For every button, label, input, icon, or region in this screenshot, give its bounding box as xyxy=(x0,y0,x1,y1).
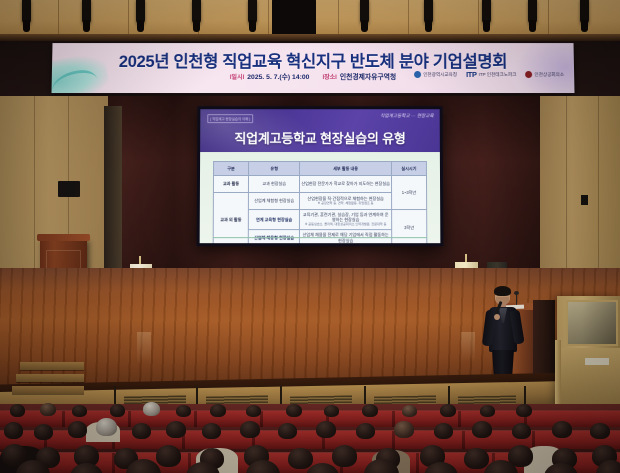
projection-screen: [ 직업계고 현장실습의 이해 ] 직업계고등학교 ··· 현장교육 직업계고등… xyxy=(197,106,444,246)
speaker-hair xyxy=(494,286,511,296)
booth-lower-panel xyxy=(560,348,620,408)
cell-when: 1~3학년 xyxy=(391,176,426,210)
stage-door xyxy=(104,106,122,268)
slide-footer-rule xyxy=(213,237,428,238)
table-row: 교과 활동 교과 현장실습 산업현장 전문가가 학교로 찾아가 지도하는 현장실… xyxy=(213,176,426,193)
ceiling-trim xyxy=(0,34,620,41)
slide-title: 직업계고등학교 현장실습의 유형 xyxy=(200,128,440,147)
slide-body: 구분 유형 세부 활동 내용 실시시기 교과 활동 교과 현장실습 산업현장 전… xyxy=(200,152,441,243)
stage-steps xyxy=(20,322,88,394)
col-header-division: 구분 xyxy=(214,162,249,176)
stage-light-icon xyxy=(528,0,537,24)
col-header-type: 유형 xyxy=(249,162,300,176)
ceiling-projector xyxy=(272,0,316,38)
logo-label: 인천광역시교육청 xyxy=(423,71,457,77)
cell-type: 교과 현장실습 xyxy=(249,176,300,193)
event-banner: 2025년 인천형 직업교육 혁신지구 반도체 분야 기업설명회 l일시l 20… xyxy=(51,43,574,93)
ceiling-panel xyxy=(0,0,620,38)
table-header-row: 구분 유형 세부 활동 내용 실시시기 xyxy=(214,162,427,176)
cell-type: 산업계 체험형 현장실습 xyxy=(248,193,299,210)
banner-date-value: 2025. 5. 7.(수) 14:00 xyxy=(247,71,309,81)
banner-title: 2025년 인천형 직업교육 혁신지구 반도체 분야 기업설명회 xyxy=(52,48,574,72)
stage-light-icon xyxy=(22,0,31,24)
chamber-logo-icon xyxy=(525,71,532,78)
stage-light-icon xyxy=(360,0,369,24)
right-wall xyxy=(540,96,620,282)
booth-rail xyxy=(555,340,561,410)
slide-section-tag: [ 직업계고 현장실습의 이해 ] xyxy=(207,114,253,123)
cell-detail: 산업현장을 직·간접적으로 체험하는 현장실습 ※ 공장견학 등, 견학, 체험… xyxy=(300,193,392,210)
logo-label: ITP 인천테크노파크 xyxy=(479,71,517,77)
stage-light-icon xyxy=(82,0,91,24)
banner-place-value: 인천경제자유구역청 xyxy=(340,71,396,81)
col-header-detail: 세부 활동 내용 xyxy=(300,162,392,176)
logo-incheon-education-office: 인천광역시교육청 xyxy=(414,71,457,78)
wall-vent xyxy=(581,195,588,205)
stage-light-icon xyxy=(136,0,145,24)
stage-light-icon xyxy=(482,0,491,24)
audience-area xyxy=(0,404,620,473)
slide-header: [ 직업계고 현장실습의 이해 ] 직업계고등학교 ··· 현장교육 직업계고등… xyxy=(200,109,440,152)
logo-itp: ITP ITP 인천테크노파크 xyxy=(466,70,517,79)
education-office-logo-icon xyxy=(414,71,421,78)
stage-light-icon xyxy=(248,0,257,24)
banner-date-label: l일시l xyxy=(230,71,244,80)
auditorium-photo: 2025년 인천형 직업교육 혁신지구 반도체 분야 기업설명회 l일시l 20… xyxy=(0,0,620,473)
logo-incheon-chamber: 인천상공회의소 xyxy=(525,71,564,78)
stage-light-icon xyxy=(424,0,433,24)
wall-vent xyxy=(58,181,80,197)
booth-sign xyxy=(585,358,609,365)
cell-division: 교과 외 활동 xyxy=(213,193,248,244)
slide-table: 구분 유형 세부 활동 내용 실시시기 교과 활동 교과 현장실습 산업현장 전… xyxy=(213,161,428,243)
cell-division: 교과 활동 xyxy=(213,176,248,193)
col-header-when: 실시시기 xyxy=(391,162,426,176)
logo-label: 인천상공회의소 xyxy=(534,71,564,77)
booth-window xyxy=(566,300,618,346)
stage-light-icon xyxy=(192,0,201,24)
cell-detail: 교육기관, 훈련기관, 실습장, 기업 등과 연계하여 운영하는 현장실습 ※ … xyxy=(300,210,392,230)
stage-speaker-cabinet xyxy=(533,300,555,374)
banner-logo-row: 인천광역시교육청 ITP ITP 인천테크노파크 인천상공회의소 xyxy=(414,70,564,79)
cell-type: 연계 교육형 현장실습 xyxy=(248,210,299,230)
stage-light-icon xyxy=(580,0,589,24)
slide-brand-mark: 직업계고등학교 ··· 현장교육 xyxy=(380,113,434,119)
cell-detail: 산업현장 전문가가 학교로 찾아가 지도하는 현장실습 xyxy=(300,176,392,193)
banner-place-label: l장소l xyxy=(322,71,336,80)
